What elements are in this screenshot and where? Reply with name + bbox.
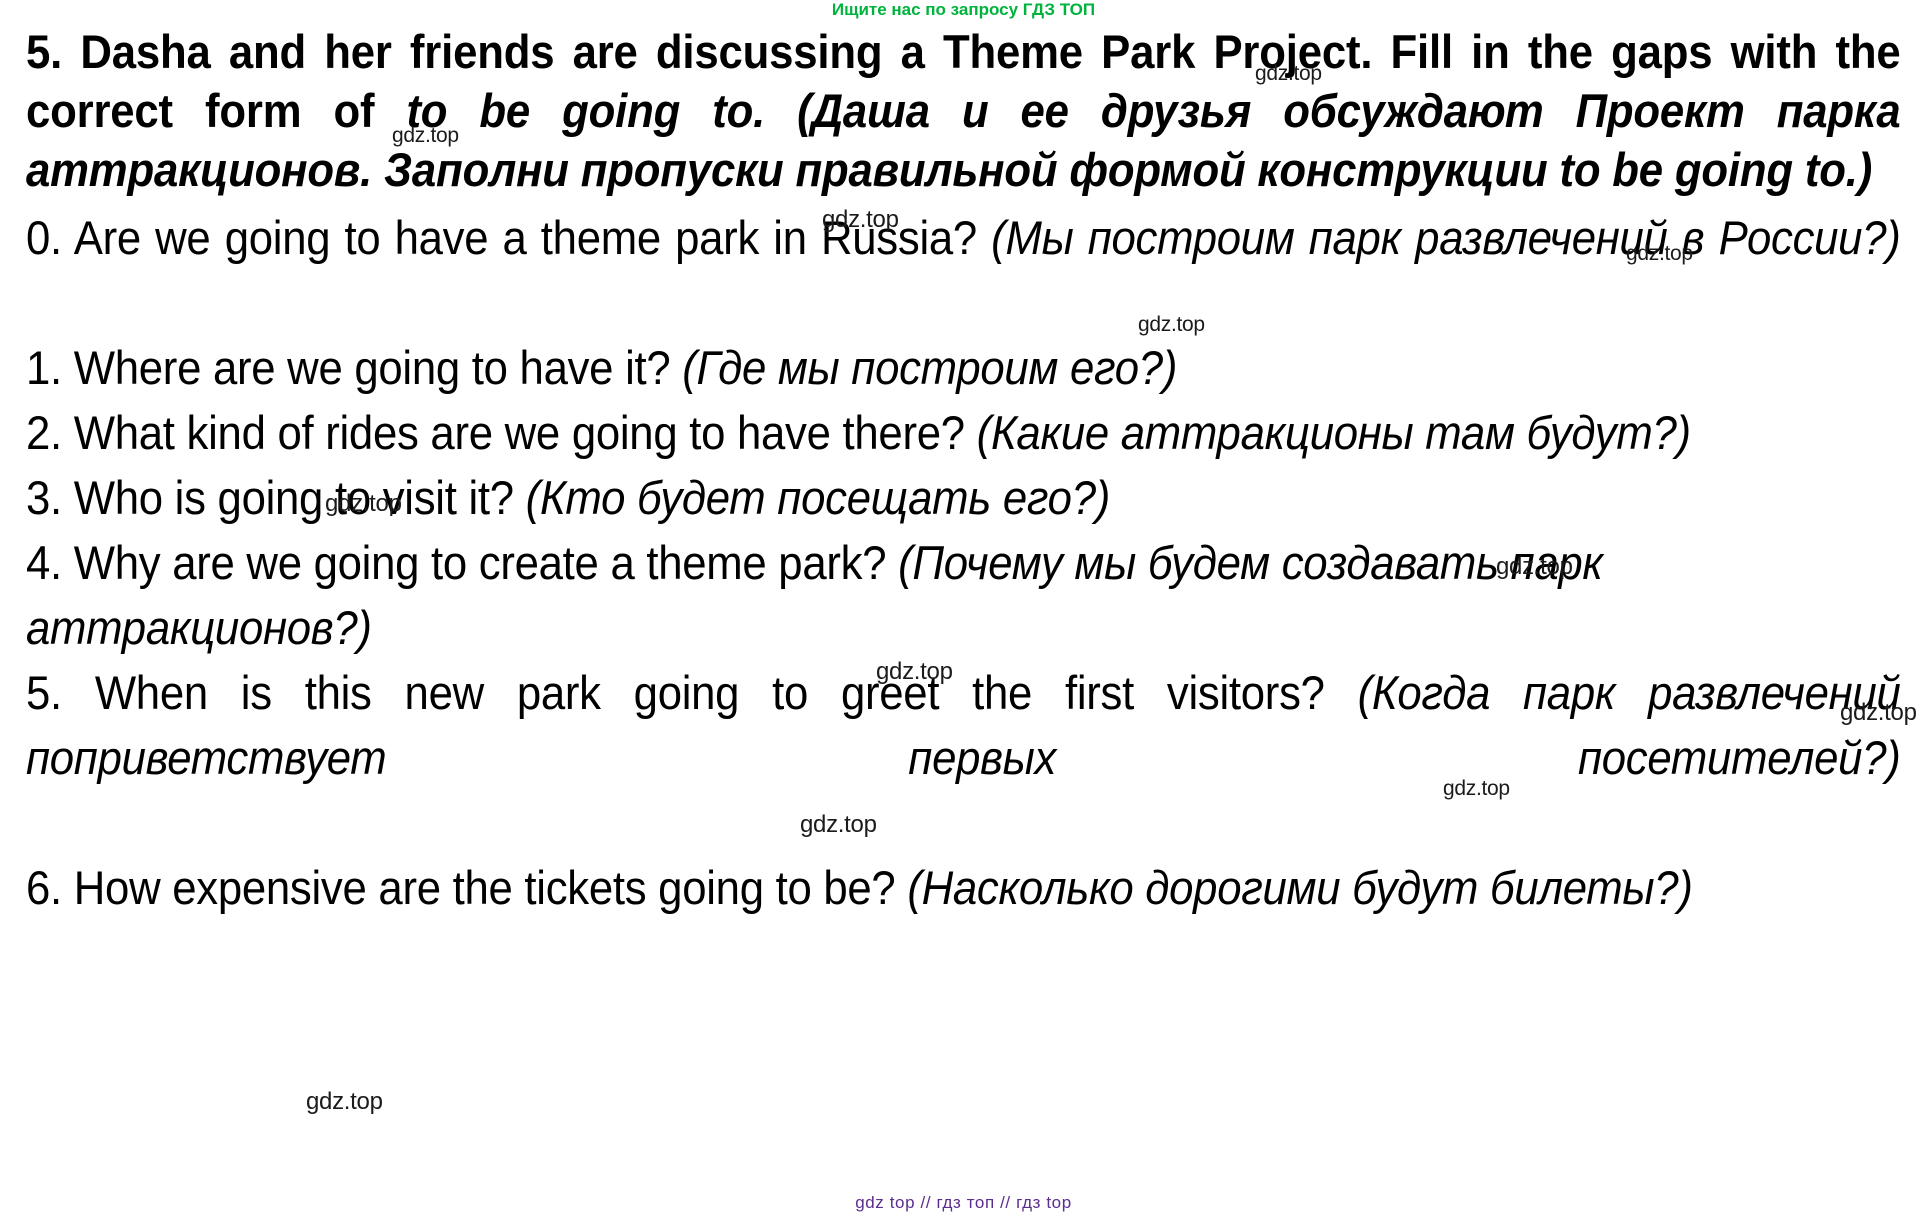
question-2-russian: (Какие аттракционы там будут?) [977, 406, 1691, 459]
question-4-english: 4. Why are we going to create a theme pa… [26, 536, 886, 589]
question-6-english: 6. How expensive are the tickets going t… [26, 861, 895, 914]
task-heading: 5. Dasha and her friends are discussing … [26, 22, 1901, 199]
exercise-sheet: 5. Dasha and her friends are discussing … [0, 22, 1927, 1182]
question-item-6: 6. How expensive are the tickets going t… [26, 855, 1901, 920]
question-1-english: 1. Where are we going to have it? [26, 341, 670, 394]
question-5-english: 5. When is this new park going to greet … [26, 666, 1325, 719]
question-0-english: 0. Are we going to have a theme park in … [26, 211, 977, 264]
question-6-russian: (Насколько дорогими будут билеты?) [907, 861, 1692, 914]
question-item-0: 0. Are we going to have a theme park in … [26, 205, 1901, 335]
question-item-2: 2. What kind of rides are we going to ha… [26, 400, 1901, 465]
question-0-russian: (Мы построим парк развлечений в России?) [991, 211, 1900, 264]
question-item-5: 5. When is this new park going to greet … [26, 660, 1901, 855]
question-item-3: 3. Who is going to visit it? (Кто будет … [26, 465, 1901, 530]
question-3-russian: (Кто будет посещать его?) [526, 471, 1110, 524]
question-2-english: 2. What kind of rides are we going to ha… [26, 406, 965, 459]
question-item-1: 1. Where are we going to have it? (Где м… [26, 335, 1901, 400]
question-3-english: 3. Who is going to visit it? [26, 471, 514, 524]
footer-site-credit: gdz top // гдз топ // гдз top [0, 1193, 1927, 1213]
task-heading-italic-phrase: to be going to. [406, 84, 765, 137]
question-1-russian: (Где мы построим его?) [682, 341, 1177, 394]
top-promo-banner: Ищите нас по запросу ГДЗ ТОП [0, 0, 1927, 20]
question-item-4: 4. Why are we going to create a theme pa… [26, 530, 1901, 660]
